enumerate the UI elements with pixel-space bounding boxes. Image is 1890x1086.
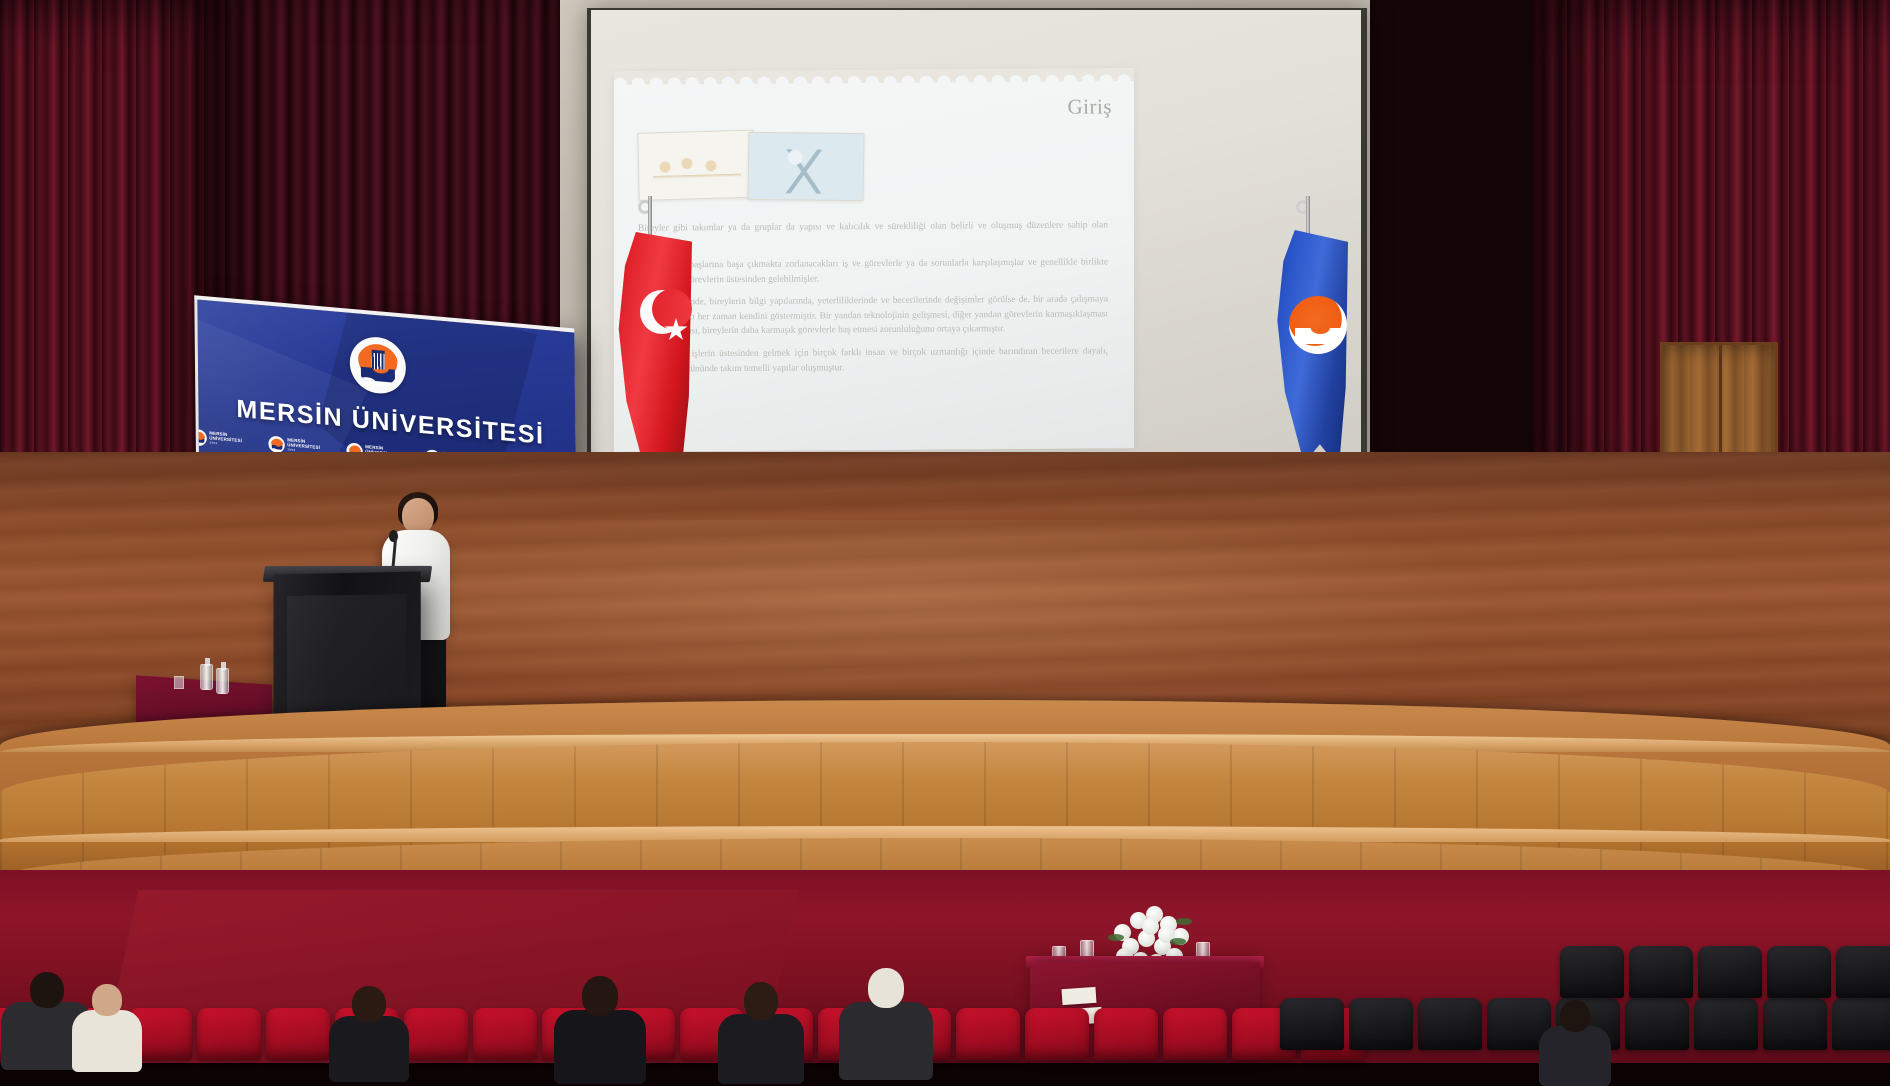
flower-bloom	[1142, 918, 1159, 935]
presenter-head	[402, 498, 434, 534]
flower-leaf	[1176, 918, 1192, 925]
teamwork-clip-icon	[747, 132, 864, 201]
auditorium-seat[interactable]	[1025, 1008, 1089, 1060]
flower-leaf	[1108, 934, 1124, 941]
seat-row	[0, 1008, 1365, 1060]
auditorium-seat[interactable]	[1763, 998, 1827, 1050]
logo-mark	[357, 342, 399, 388]
auditorium-seat[interactable]	[1094, 1008, 1158, 1060]
slide-paragraph: Bireyler gibi takımlar ya da gruplar da …	[638, 218, 1108, 250]
drawing-figures	[653, 153, 742, 189]
audience-member-head	[30, 972, 64, 1008]
auditorium-seat[interactable]	[1694, 998, 1758, 1050]
document-sheet	[1061, 987, 1096, 1005]
audience-member-torso	[1539, 1026, 1611, 1086]
mersin-university-logo-icon	[1289, 296, 1347, 354]
stage-floor-highlight	[300, 520, 1500, 720]
auditorium-seat[interactable]	[1625, 998, 1689, 1050]
audience-member-torso	[718, 1014, 804, 1084]
auditorium-seat[interactable]	[404, 1008, 468, 1060]
auditorium-seat[interactable]	[197, 1008, 261, 1060]
auditorium-seat[interactable]	[1560, 946, 1624, 998]
audience-member-torso	[329, 1016, 409, 1082]
auditorium-scene: Giriş Bireyler gibi takımlar ya da grupl…	[0, 0, 1890, 1063]
mersin-university-logo-icon	[268, 435, 285, 453]
slide-paragraph: Bireyler, tek başlarına başa çıkmakta zo…	[638, 256, 1108, 288]
water-bottle	[200, 664, 213, 690]
projection-screen: Giriş Bireyler gibi takımlar ya da grupl…	[591, 10, 1361, 476]
presentation-slide: Giriş Bireyler gibi takımlar ya da grupl…	[614, 68, 1134, 452]
slide-paragraph: Zaman içerisinde, bireylerin bilgi yapıl…	[638, 293, 1108, 340]
audience-member-head	[352, 986, 386, 1022]
slide-image-group	[638, 130, 888, 204]
auditorium-seat[interactable]	[473, 1008, 537, 1060]
audience-member-torso	[554, 1010, 646, 1084]
auditorium-seat[interactable]	[1280, 998, 1344, 1050]
auditorium-seat[interactable]	[1163, 1008, 1227, 1060]
auditorium-seat[interactable]	[1698, 946, 1762, 998]
auditorium-seat[interactable]	[1832, 998, 1890, 1050]
auditorium-seat[interactable]	[1767, 946, 1831, 998]
auditorium-seat[interactable]	[1629, 946, 1693, 998]
flower-leaf	[1170, 938, 1186, 945]
seat-row	[1560, 946, 1890, 998]
mersin-university-logo-icon	[194, 429, 207, 447]
water-bottle	[216, 668, 229, 694]
auditorium-seat[interactable]	[1349, 998, 1413, 1050]
audience-member-head	[868, 968, 904, 1008]
slide-torn-edge-decoration	[614, 68, 1134, 85]
water-glass	[174, 676, 184, 689]
auditorium-seat[interactable]	[266, 1008, 330, 1060]
audience-member-head	[582, 976, 618, 1016]
audience-member-torso	[839, 1002, 933, 1080]
audience-member-head	[92, 984, 122, 1016]
children-drawing-clip-icon	[637, 130, 754, 201]
repeated-logo-label: MERSİNÜNİVERSİTESİ1992	[209, 432, 242, 448]
audience-member-head	[744, 982, 778, 1020]
audience-member-head	[1560, 1000, 1590, 1032]
slide-title: Giriş	[1068, 94, 1113, 119]
logo-mark	[270, 438, 282, 451]
teamwork-figure	[771, 149, 842, 194]
auditorium-seat[interactable]	[1836, 946, 1890, 998]
repeated-logo-item: MERSİNÜNİVERSİTESİ1992	[194, 429, 242, 450]
auditorium-seat[interactable]	[1418, 998, 1482, 1050]
auditorium-seat[interactable]	[956, 1008, 1020, 1060]
logo-mark	[194, 431, 205, 444]
slide-body-text: Bireyler gibi takımlar ya da gruplar da …	[638, 218, 1108, 384]
slide-paragraph: Bu karmaşık işlerin üstesinden gelmek iç…	[638, 344, 1108, 376]
